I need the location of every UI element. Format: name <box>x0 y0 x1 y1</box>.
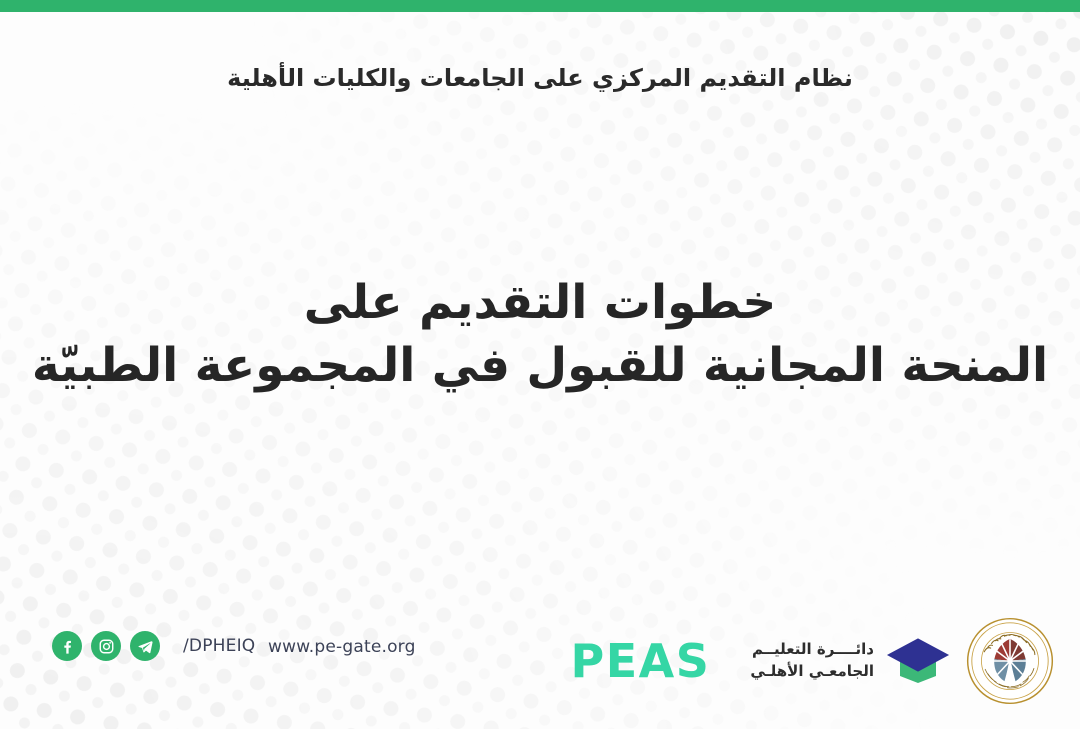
header-title: نظام التقديم المركزي على الجامعات والكلي… <box>227 62 853 94</box>
ministry-of-higher-education-seal <box>964 615 1056 707</box>
website-link[interactable]: www.pe-gate.org <box>268 637 416 657</box>
header: نظام التقديم المركزي على الجامعات والكلي… <box>0 62 1080 94</box>
headline-line-1: خطوات التقديم على <box>0 272 1080 335</box>
graduation-cap-logo <box>886 633 950 689</box>
page-title: خطوات التقديم على المنحة المجانية للقبول… <box>0 272 1080 398</box>
department-name-line-1: دائــــرة التعليــم <box>750 639 874 661</box>
telegram-icon[interactable] <box>130 631 160 661</box>
social-links: /DPHEIQ <box>52 631 255 661</box>
footer: /DPHEIQ www.pe-gate.org PEAS دائــــرة ا… <box>0 599 1080 729</box>
department-name-line-2: الجامعـي الأهلـي <box>750 661 874 683</box>
department-name: دائــــرة التعليــم الجامعـي الأهلـي <box>750 639 874 683</box>
top-accent-bar <box>0 0 1080 12</box>
headline-line-2: المنحة المجانية للقبول في المجموعة الطبي… <box>0 335 1080 398</box>
peas-wordmark: PEAS <box>570 638 710 684</box>
social-handle[interactable]: /DPHEIQ <box>183 636 255 656</box>
facebook-icon[interactable] <box>52 631 82 661</box>
slide-canvas: نظام التقديم المركزي على الجامعات والكلي… <box>0 0 1080 729</box>
brand-logos: PEAS دائــــرة التعليــم الجامعـي الأهلـ… <box>570 611 1056 711</box>
instagram-icon[interactable] <box>91 631 121 661</box>
